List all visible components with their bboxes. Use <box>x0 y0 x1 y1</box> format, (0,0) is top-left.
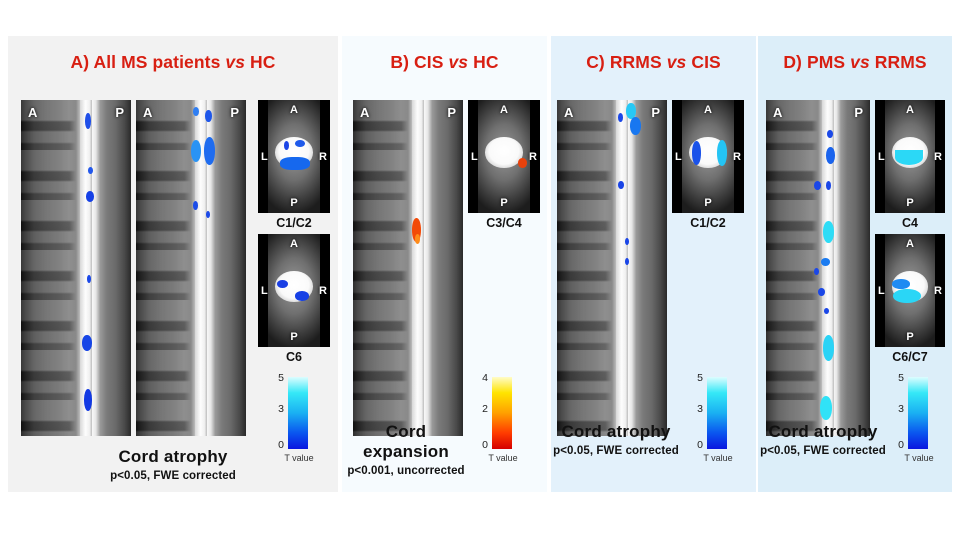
vertebrae-texture <box>353 100 463 436</box>
orientation-label-anterior: A <box>360 105 369 120</box>
orientation-label-posterior: P <box>115 105 124 120</box>
cluster-blob <box>630 117 641 135</box>
cluster-blob <box>87 275 91 283</box>
cluster-blob <box>295 140 305 147</box>
orientation-label-anterior: A <box>500 104 508 116</box>
orientation-label-anterior: A <box>704 104 712 116</box>
panel-d-title: D) PMS vs RRMS <box>758 52 952 73</box>
panel-d-sagittal-1: A P <box>766 100 870 436</box>
orientation-label-anterior: A <box>143 105 152 120</box>
orientation-label-right: R <box>934 151 942 163</box>
orientation-label-right: R <box>934 285 942 297</box>
orientation-label-anterior: A <box>290 238 298 250</box>
panel-d: D) PMS vs RRMS A P A P L <box>758 36 952 492</box>
panel-a-title-suffix: HC <box>245 52 275 72</box>
panel-c-title-prefix: C) RRMS <box>586 52 667 72</box>
panel-a-axial-2-label: C6 <box>258 350 330 364</box>
orientation-label-right: R <box>733 151 741 163</box>
cluster-blob <box>692 141 701 165</box>
colorbar-tick: 0 <box>689 439 703 451</box>
colorbar-title: T value <box>890 453 948 463</box>
colorbar-gradient <box>908 377 928 449</box>
spinal-cord <box>616 100 628 436</box>
panel-a-title-vs: vs <box>225 52 245 72</box>
caption-main: Cord expansion <box>342 422 470 462</box>
colorbar-gradient <box>707 377 727 449</box>
orientation-label-posterior: P <box>500 197 507 209</box>
panel-d-axial-1-label: C4 <box>875 216 945 230</box>
panel-b-axial-1: A P L R <box>468 100 540 213</box>
panel-b-title: B) CIS vs HC <box>342 52 547 73</box>
panel-c-title: C) RRMS vs CIS <box>551 52 756 73</box>
orientation-label-left: L <box>675 151 682 163</box>
panel-a-title-prefix: A) All MS patients <box>71 52 226 72</box>
panel-c-axial-1-label: C1/C2 <box>672 216 744 230</box>
cluster-blob <box>618 113 623 122</box>
colorbar-tick: 3 <box>689 403 703 415</box>
orientation-label-left: L <box>261 151 268 163</box>
cluster-blob <box>818 288 825 296</box>
orientation-label-anterior: A <box>773 105 782 120</box>
cluster-blob <box>82 335 92 351</box>
cluster-blob <box>295 291 309 301</box>
cluster-blob <box>518 158 527 168</box>
panel-c-caption: Cord atrophy p<0.05, FWE corrected <box>551 422 681 457</box>
panel-d-title-prefix: D) PMS <box>783 52 850 72</box>
orientation-label-left: L <box>471 151 478 163</box>
colorbar-gradient <box>492 377 512 449</box>
colorbar-title: T value <box>689 453 747 463</box>
figure-root: A) All MS patients vs HC A P <box>0 0 960 540</box>
colorbar-tick: 0 <box>890 439 904 451</box>
cluster-blob <box>821 258 830 266</box>
colorbar-tick: 5 <box>689 372 703 384</box>
caption-sub: p<0.05, FWE corrected <box>758 445 888 457</box>
orientation-label-right: R <box>319 285 327 297</box>
colorbar-tick: 5 <box>270 372 284 384</box>
vertebrae-texture <box>557 100 667 436</box>
orientation-label-right: R <box>319 151 327 163</box>
orientation-label-posterior: P <box>906 331 913 343</box>
cluster-blob <box>284 141 289 150</box>
panel-a-axial-2: A P L R <box>258 234 330 347</box>
vertebrae-texture <box>21 100 131 436</box>
panel-a-sagittal-1: A P <box>21 100 131 436</box>
caption-sub: p<0.05, FWE corrected <box>551 445 681 457</box>
colorbar-tick: 5 <box>890 372 904 384</box>
panel-a: A) All MS patients vs HC A P <box>8 36 338 492</box>
orientation-label-anterior: A <box>28 105 37 120</box>
cluster-blob <box>280 157 310 170</box>
cluster-blob <box>193 201 198 210</box>
caption-main: Cord atrophy <box>758 422 888 442</box>
colorbar-tick: 2 <box>474 403 488 415</box>
orientation-label-posterior: P <box>230 105 239 120</box>
spinal-cord <box>80 100 92 436</box>
panel-d-axial-1: A P L R <box>875 100 945 213</box>
colorbar-tick: 0 <box>474 439 488 451</box>
orientation-label-anterior: A <box>290 104 298 116</box>
panel-a-axial-1: A P L R <box>258 100 330 213</box>
orientation-label-anterior: A <box>906 104 914 116</box>
cluster-blob <box>814 181 821 190</box>
orientation-label-posterior: P <box>906 197 913 209</box>
panel-b: B) CIS vs HC A P A P L R C3/C4 4 2 0 T v <box>342 36 547 492</box>
caption-sub: p<0.001, uncorrected <box>342 465 470 477</box>
panel-a-caption: Cord atrophy p<0.05, FWE corrected <box>8 447 338 482</box>
panel-c-title-vs: vs <box>667 52 687 72</box>
panel-b-title-vs: vs <box>448 52 468 72</box>
cluster-blob <box>625 238 629 245</box>
panel-a-sagittal-2: A P <box>136 100 246 436</box>
orientation-label-anterior: A <box>564 105 573 120</box>
cluster-blob <box>86 191 94 202</box>
orientation-label-left: L <box>878 285 885 297</box>
cluster-blob <box>895 150 923 165</box>
orientation-label-anterior: A <box>906 238 914 250</box>
caption-sub: p<0.05, FWE corrected <box>8 470 338 482</box>
panel-d-title-suffix: RRMS <box>870 52 927 72</box>
orientation-label-posterior: P <box>854 105 863 120</box>
colorbar-tick: 4 <box>474 372 488 384</box>
cluster-blob <box>415 234 420 244</box>
orientation-label-posterior: P <box>447 105 456 120</box>
cluster-blob <box>84 389 92 411</box>
orientation-label-right: R <box>529 151 537 163</box>
panel-b-caption: Cord expansion p<0.001, uncorrected <box>342 422 470 477</box>
panel-c-sagittal-1: A P <box>557 100 667 436</box>
cluster-blob <box>204 137 215 165</box>
cluster-blob <box>823 221 834 243</box>
colorbar-title: T value <box>474 453 532 463</box>
panel-c: C) RRMS vs CIS A P A P L R C1/C2 <box>551 36 756 492</box>
panel-d-title-vs: vs <box>850 52 870 72</box>
panel-d-caption: Cord atrophy p<0.05, FWE corrected <box>758 422 888 457</box>
orientation-label-posterior: P <box>651 105 660 120</box>
spinal-cord-axial <box>485 137 522 168</box>
orientation-label-left: L <box>261 285 268 297</box>
panel-b-sagittal-1: A P <box>353 100 463 436</box>
caption-main: Cord atrophy <box>551 422 681 442</box>
orientation-label-posterior: P <box>290 197 297 209</box>
cluster-blob <box>85 113 91 129</box>
cluster-blob <box>892 279 910 289</box>
panel-a-title: A) All MS patients vs HC <box>8 52 338 73</box>
cluster-blob <box>717 140 727 166</box>
panel-c-title-suffix: CIS <box>686 52 720 72</box>
orientation-label-posterior: P <box>704 197 711 209</box>
cluster-blob <box>820 396 832 420</box>
orientation-label-left: L <box>878 151 885 163</box>
panel-b-title-suffix: HC <box>468 52 498 72</box>
panel-d-axial-2-label: C6/C7 <box>875 350 945 364</box>
spinal-cord <box>412 100 424 436</box>
panel-a-axial-1-label: C1/C2 <box>258 216 330 230</box>
colorbar-tick: 3 <box>890 403 904 415</box>
panel-b-title-prefix: B) CIS <box>390 52 448 72</box>
orientation-label-posterior: P <box>290 331 297 343</box>
cluster-blob <box>193 107 199 116</box>
cluster-blob <box>814 268 819 275</box>
panel-d-axial-2: A P L R <box>875 234 945 347</box>
panel-c-axial-1: A P L R <box>672 100 744 213</box>
colorbar-gradient <box>288 377 308 449</box>
colorbar-tick: 3 <box>270 403 284 415</box>
cluster-blob <box>191 140 201 162</box>
panel-b-axial-1-label: C3/C4 <box>468 216 540 230</box>
caption-main: Cord atrophy <box>8 447 338 467</box>
cluster-blob <box>618 181 624 189</box>
